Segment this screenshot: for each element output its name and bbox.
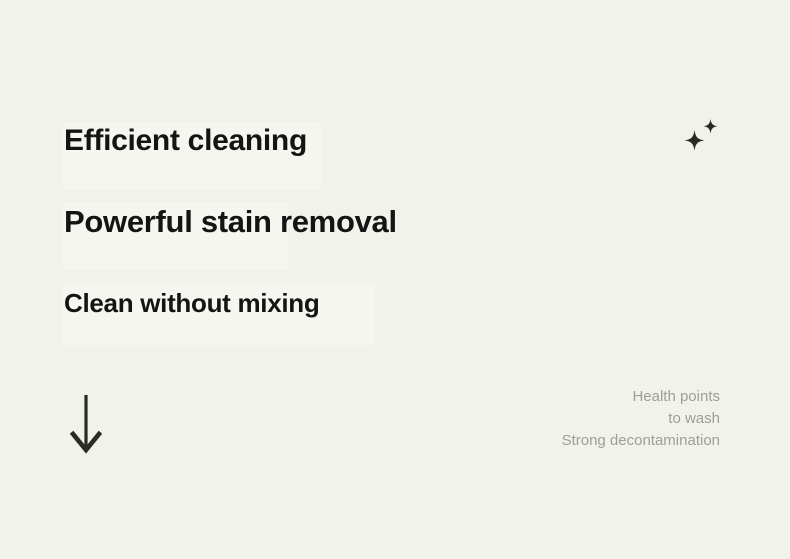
arrow-down-icon <box>70 393 102 455</box>
headline-efficient-cleaning: Efficient cleaning <box>64 126 307 156</box>
sparkle-icon <box>684 118 722 154</box>
caption-block: Health points to wash Strong decontamina… <box>562 386 720 452</box>
caption-line-to-wash: to wash <box>562 408 720 430</box>
caption-line-strong-decontamination: Strong decontamination <box>562 430 720 452</box>
promo-banner: Efficient cleaning Powerful stain remova… <box>0 0 790 559</box>
headline-clean-without-mixing: Clean without mixing <box>64 290 319 316</box>
headline-powerful-stain-removal: Powerful stain removal <box>64 206 397 237</box>
caption-line-health-points: Health points <box>562 386 720 408</box>
